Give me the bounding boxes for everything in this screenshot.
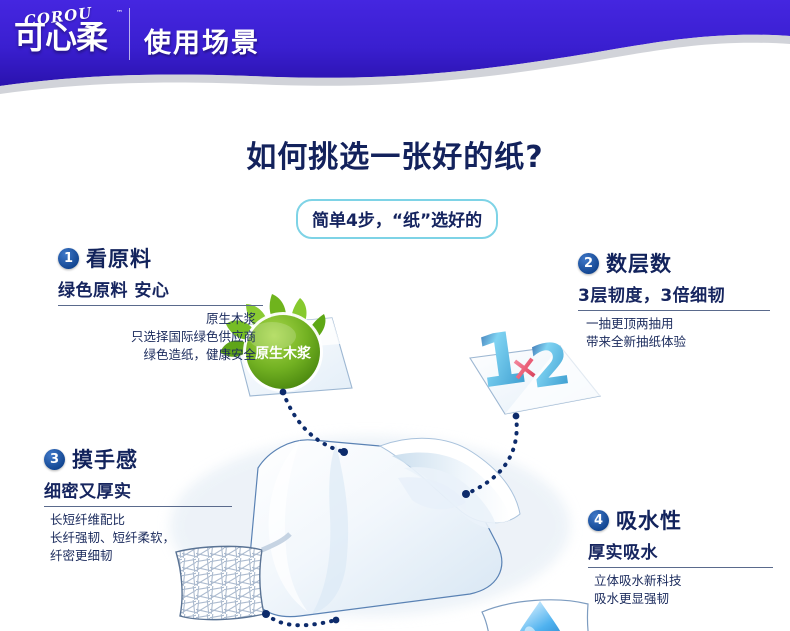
feature-3-subtitle: 细密又厚实 — [44, 477, 244, 502]
feature-1-body-line-3: 绿色造纸，健康安全 — [58, 346, 256, 364]
feature-2-body-line-1: 一抽更顶两抽用 — [586, 315, 783, 333]
feature-3-body-line-3: 纤密更细韧 — [50, 547, 244, 565]
water-absorb-card — [482, 600, 598, 631]
trademark-icon: ™ — [116, 9, 123, 17]
feature-1-subtitle: 绿色原料 安心 — [58, 276, 273, 301]
feature-4-number-badge: 4 — [588, 510, 609, 531]
feature-1-body-line-2: 只选择国际绿色供应商 — [58, 328, 256, 346]
feature-section-1: 1 看原料 绿色原料 安心 原生木浆 只选择国际绿色供应商 绿色造纸，健康安全 — [58, 243, 273, 364]
feature-3-body-line-1: 长短纤维配比 — [50, 511, 244, 529]
feature-2-heading: 2 数层数 — [578, 248, 783, 278]
feature-1-divider — [58, 305, 263, 306]
feature-2-number-badge: 2 — [578, 253, 599, 274]
feature-2-subtitle: 3层韧度，3倍细韧 — [578, 281, 783, 306]
numeral-layers-graphic: 1 × 2 — [471, 315, 575, 405]
feature-3-title: 摸手感 — [72, 444, 138, 474]
feature-section-4: 4 吸水性 厚实吸水 立体吸水新科技 吸水更显强韧 — [588, 505, 783, 608]
feature-section-2: 2 数层数 3层韧度，3倍细韧 一抽更顶两抽用 带来全新抽纸体验 — [578, 248, 783, 351]
feature-1-body-line-1: 原生木浆 — [58, 310, 256, 328]
feature-2-title: 数层数 — [606, 248, 672, 278]
feature-3-body: 长短纤维配比 长纤强韧、短纤柔软， 纤密更细韧 — [50, 511, 244, 565]
feature-2-body-line-2: 带来全新抽纸体验 — [586, 333, 783, 351]
feature-3-number-badge: 3 — [44, 449, 65, 470]
feature-4-heading: 4 吸水性 — [588, 505, 783, 535]
subtitle-badge: 简单4步，“纸”选好的 — [296, 199, 498, 239]
feature-4-subtitle: 厚实吸水 — [588, 538, 783, 563]
feature-section-3: 3 摸手感 细密又厚实 长短纤维配比 长纤强韧、短纤柔软， 纤密更细韧 — [44, 444, 244, 565]
feature-4-body: 立体吸水新科技 吸水更显强韧 — [594, 572, 783, 608]
feature-4-divider — [588, 567, 773, 568]
feature-3-heading: 3 摸手感 — [44, 444, 244, 474]
feature-4-body-line-1: 立体吸水新科技 — [594, 572, 783, 590]
numeral-two: 2 — [525, 329, 574, 402]
feature-1-body: 原生木浆 只选择国际绿色供应商 绿色造纸，健康安全 — [58, 310, 256, 364]
feature-1-heading: 1 看原料 — [58, 243, 273, 273]
feature-1-number-badge: 1 — [58, 248, 79, 269]
main-tissue-sheet — [248, 438, 520, 616]
feature-3-divider — [44, 506, 232, 507]
brand-logo-chinese: 可心柔 — [14, 20, 134, 55]
brand-logo: COROU ™ 可心柔 — [14, 6, 132, 62]
header-divider — [129, 8, 130, 60]
header-title: 使用场景 — [144, 21, 260, 60]
feature-2-divider — [578, 310, 770, 311]
page-header: COROU ™ 可心柔 使用场景 — [0, 0, 790, 96]
feature-1-title: 看原料 — [86, 243, 152, 273]
feature-3-body-line-2: 长纤强韧、短纤柔软， — [50, 529, 244, 547]
feature-2-body: 一抽更顶两抽用 带来全新抽纸体验 — [586, 315, 783, 351]
feature-4-body-line-2: 吸水更显强韧 — [594, 590, 783, 608]
feature-4-title: 吸水性 — [616, 505, 682, 535]
